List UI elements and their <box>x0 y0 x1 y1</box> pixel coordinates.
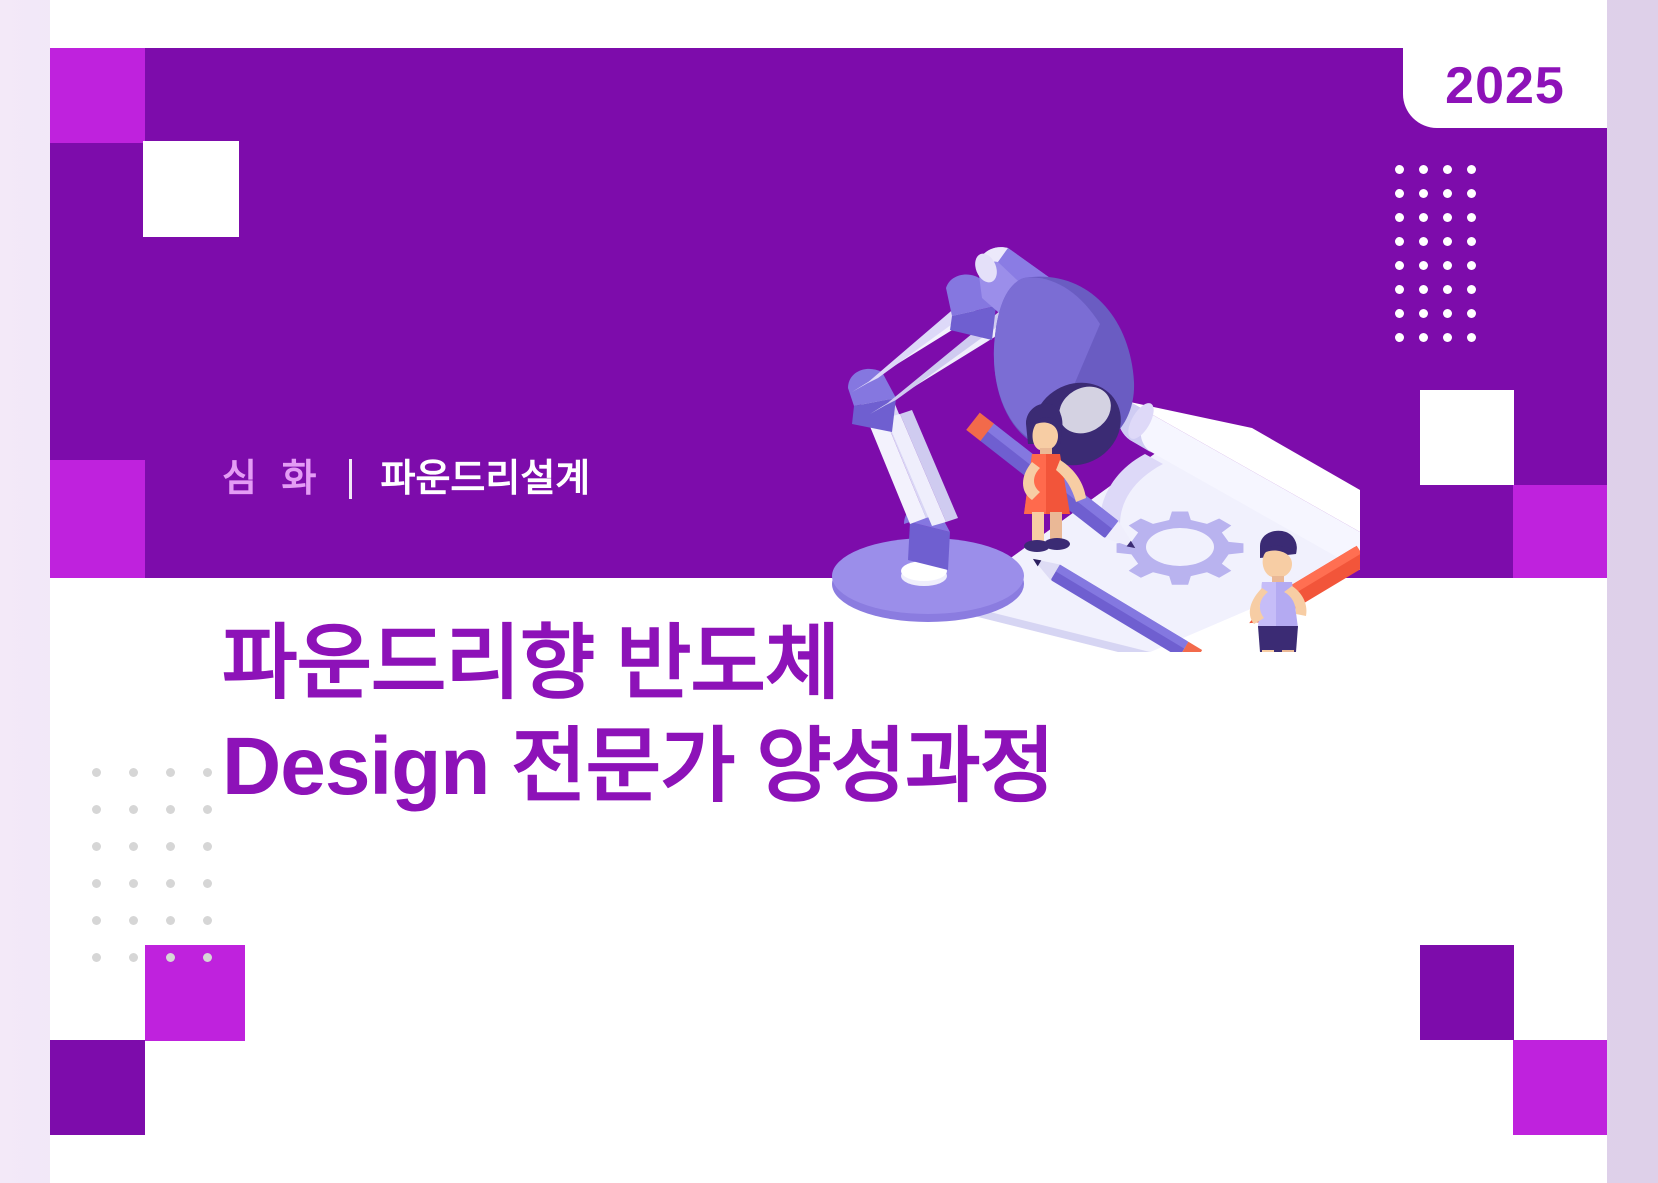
decor-dot <box>1467 333 1476 342</box>
dot-row <box>92 953 240 990</box>
decor-dot <box>1443 165 1452 174</box>
decor-dot <box>166 916 175 925</box>
decor-dot <box>129 842 138 851</box>
decor-dot <box>1395 189 1404 198</box>
decor-dot <box>203 842 212 851</box>
decor-square-top-left-magenta <box>50 48 145 143</box>
subtitle-divider <box>349 459 352 499</box>
dot-row <box>1395 261 1491 285</box>
decor-square-bottom-right-purple <box>1420 945 1514 1040</box>
dot-row <box>1395 309 1491 333</box>
decor-square-bottom-right-magenta <box>1513 1040 1607 1135</box>
dot-row <box>1395 213 1491 237</box>
decor-dot <box>1419 189 1428 198</box>
decor-dot <box>1443 333 1452 342</box>
dot-row <box>1395 165 1491 189</box>
decor-dot <box>129 768 138 777</box>
dot-row <box>92 916 240 953</box>
decor-dot <box>166 879 175 888</box>
decor-dot <box>92 805 101 814</box>
decor-dot-grid-bottom-left <box>92 768 240 990</box>
decor-dot <box>203 953 212 962</box>
decor-dot <box>1443 189 1452 198</box>
decor-dot <box>166 842 175 851</box>
decor-dot <box>1443 261 1452 270</box>
decor-square-top-left-white <box>143 141 239 237</box>
decor-dot <box>1443 237 1452 246</box>
year-badge-label: 2025 <box>1445 60 1565 112</box>
year-badge: 2025 <box>1403 44 1607 128</box>
decor-dot <box>1443 285 1452 294</box>
decor-dot <box>1395 309 1404 318</box>
decor-dot <box>1467 237 1476 246</box>
decor-dot <box>166 953 175 962</box>
dot-row <box>92 879 240 916</box>
decor-dot <box>129 879 138 888</box>
decor-square-right-mid-white <box>1420 390 1514 485</box>
decor-dot-grid-top-right <box>1395 165 1491 357</box>
decor-dot <box>1419 333 1428 342</box>
decor-dot <box>203 768 212 777</box>
page-title: 파운드리향 반도체 Design 전문가 양성과정 <box>222 612 1054 819</box>
dot-row <box>1395 285 1491 309</box>
decor-dot <box>166 768 175 777</box>
decor-dot <box>1467 309 1476 318</box>
decor-dot <box>166 805 175 814</box>
page-title-line-1: 파운드리향 반도체 <box>222 612 1054 715</box>
decor-dot <box>1467 213 1476 222</box>
desk-lamp-blueprint-illustration <box>800 232 1360 652</box>
subtitle-row: 심 화 파운드리설계 <box>222 452 590 506</box>
decor-dot <box>129 916 138 925</box>
decor-dot <box>1419 165 1428 174</box>
decor-dot <box>1395 333 1404 342</box>
decor-dot <box>92 768 101 777</box>
decor-dot <box>1419 213 1428 222</box>
dot-row <box>92 768 240 805</box>
decor-dot <box>1419 309 1428 318</box>
decor-square-right-mid-magenta <box>1513 485 1607 578</box>
decor-dot <box>1443 213 1452 222</box>
decor-dot <box>129 953 138 962</box>
decor-square-left-mid-magenta <box>50 460 145 578</box>
decor-square-bottom-left-purple <box>50 1040 145 1135</box>
decor-dot <box>92 953 101 962</box>
decor-dot <box>203 879 212 888</box>
dot-row <box>92 842 240 879</box>
decor-dot <box>1419 261 1428 270</box>
decor-dot <box>1467 189 1476 198</box>
decor-dot <box>1395 237 1404 246</box>
decor-dot <box>1395 213 1404 222</box>
decor-dot <box>1467 165 1476 174</box>
decor-dot <box>1467 261 1476 270</box>
decor-dot <box>1395 261 1404 270</box>
decor-dot <box>1467 285 1476 294</box>
decor-dot <box>1395 165 1404 174</box>
dot-row <box>92 805 240 842</box>
slide-root: 2025 심 화 파운드리설계 파운드리향 반도체 Design 전문가 양성과… <box>0 0 1658 1183</box>
dot-row <box>1395 189 1491 213</box>
dot-row <box>1395 237 1491 261</box>
dot-row <box>1395 333 1491 357</box>
decor-dot <box>203 916 212 925</box>
subtitle-kicker: 심 화 <box>222 460 323 498</box>
page-title-line-2: Design 전문가 양성과정 <box>222 715 1054 818</box>
decor-dot <box>1443 309 1452 318</box>
decor-dot <box>1395 285 1404 294</box>
decor-dot <box>129 805 138 814</box>
decor-dot <box>1419 237 1428 246</box>
decor-dot <box>1419 285 1428 294</box>
decor-dot <box>92 916 101 925</box>
subtitle-track: 파운드리설계 <box>380 460 590 498</box>
decor-dot <box>92 842 101 851</box>
decor-dot <box>203 805 212 814</box>
decor-dot <box>92 879 101 888</box>
